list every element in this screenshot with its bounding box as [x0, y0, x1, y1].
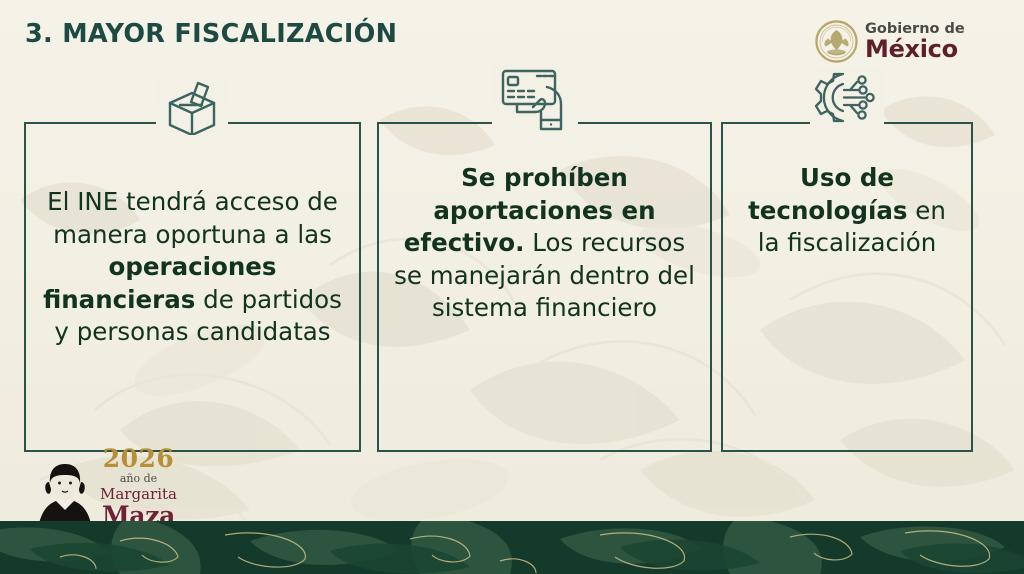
info-panel-3: Uso de tecnologías en la fiscalización: [721, 122, 973, 452]
ballot-box-icon-wrap: [156, 78, 228, 136]
bottom-decorative-band: [0, 521, 1024, 574]
panel-1-text: El INE tendrá acceso de manera oportuna …: [26, 186, 359, 349]
logo-line-gobierno: Gobierno de: [865, 22, 965, 37]
panel-2-text: Se prohíben aportaciones en efectivo. Lo…: [379, 162, 710, 325]
margarita-maza-portrait-icon: [34, 458, 96, 530]
info-panel-2: Se prohíben aportaciones en efectivo. Lo…: [377, 122, 712, 452]
logo-line-mexico: México: [865, 37, 965, 61]
slide-title: 3. MAYOR FISCALIZACIÓN: [25, 19, 397, 49]
gobierno-de-mexico-logo: Gobierno de México: [815, 20, 965, 63]
badge-year: 2026: [100, 446, 177, 471]
hand-holding-credit-card-icon: [495, 65, 575, 135]
gear-circuit-technology-icon: [813, 70, 881, 134]
presentation-slide: 3. MAYOR FISCALIZACIÓN Gobierno de Méxic…: [0, 0, 1024, 574]
logo-wordmark: Gobierno de México: [865, 22, 965, 62]
mexican-eagle-seal-icon: [815, 20, 858, 63]
hand-holding-credit-card-icon-wrap: [492, 64, 578, 136]
info-panel-1: El INE tendrá acceso de manera oportuna …: [24, 122, 361, 452]
year-2026-margarita-maza-badge: 2026 año de Margarita Maza: [34, 458, 177, 530]
badge-text-block: 2026 año de Margarita Maza: [100, 446, 177, 530]
ballot-box-icon: [160, 79, 224, 135]
panel-3-text: Uso de tecnologías en la fiscalización: [723, 162, 971, 260]
gear-circuit-technology-icon-wrap: [810, 68, 884, 136]
